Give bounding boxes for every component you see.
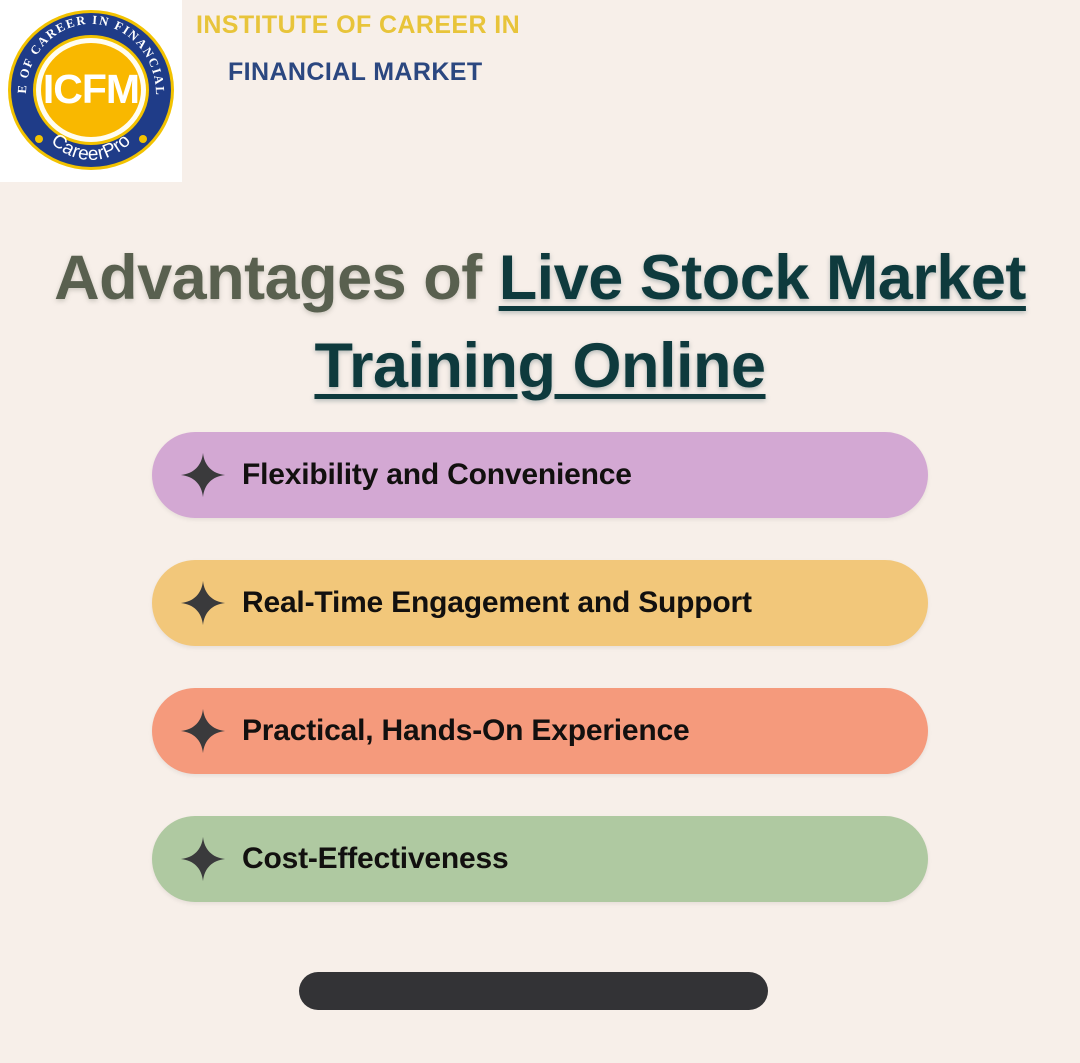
sparkle-star-icon [180,836,226,882]
page-title-plain-text: Advantages of [54,243,499,313]
page-title-line-1: Advantages of Live Stock Market [40,234,1040,322]
logo-plate: INSTITUTE OF CAREER IN FINANCIAL MARKET … [0,0,182,182]
sparkle-star-icon [180,580,226,626]
page-header: INSTITUTE OF CAREER IN FINANCIAL MARKET … [0,0,1080,190]
list-item[interactable]: Cost-Effectiveness [152,816,928,902]
svg-text:ICFM: ICFM [43,66,139,112]
sparkle-star-icon [180,708,226,754]
list-item-label: Flexibility and Convenience [242,458,632,492]
list-item-label: Practical, Hands-On Experience [242,714,690,748]
brand-name-block: INSTITUTE OF CAREER IN FINANCIAL MARKET [196,8,816,89]
list-item[interactable]: Real-Time Engagement and Support [152,560,928,646]
page-title-accent-text-line-2: Training Online [314,331,765,401]
list-item-label: Cost-Effectiveness [242,842,509,876]
page-title-line-2: Training Online [40,322,1040,410]
sparkle-star-icon [180,452,226,498]
benefits-list: Flexibility and Convenience Real-Time En… [152,432,928,902]
list-item[interactable]: Practical, Hands-On Experience [152,688,928,774]
page-title: Advantages of Live Stock Market Training… [40,234,1040,410]
list-item[interactable]: Flexibility and Convenience [152,432,928,518]
page-title-accent-text-line-1: Live Stock Market [499,243,1026,313]
list-item-label: Real-Time Engagement and Support [242,586,752,620]
icfm-circular-seal-logo: INSTITUTE OF CAREER IN FINANCIAL MARKET … [4,6,178,174]
brand-name-line-1: INSTITUTE OF CAREER IN [196,8,816,42]
brand-name-line-2: FINANCIAL MARKET [228,55,816,89]
bottom-progress-bar[interactable] [299,972,768,1010]
